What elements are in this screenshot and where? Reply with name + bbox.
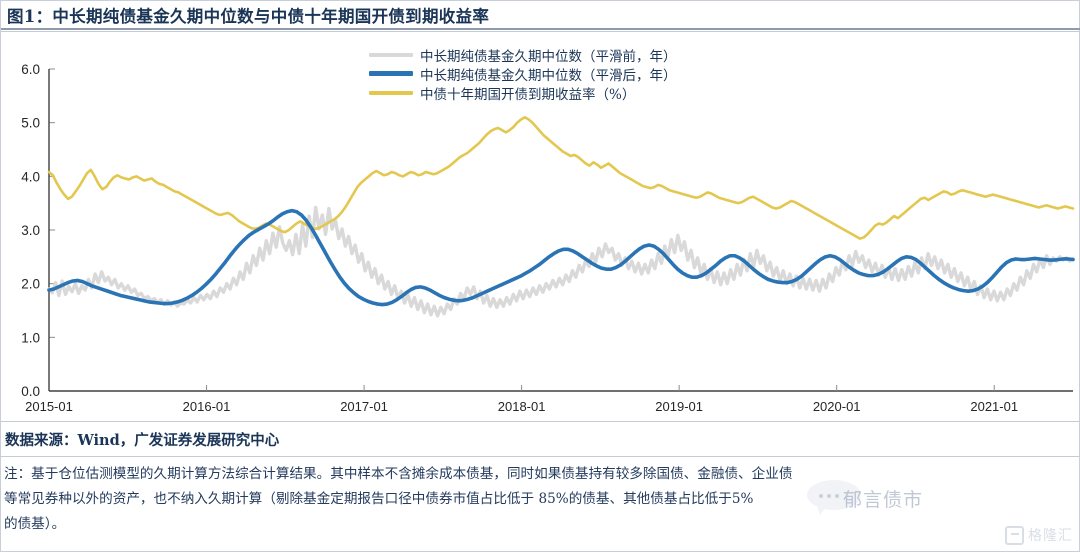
header-divider-secondary bbox=[1, 31, 1080, 32]
note-line-1: 注：基于仓位估测模型的久期计算方法综合计算结果。其中样本不含摊余成本债基，同时如… bbox=[4, 462, 1078, 487]
svg-text:3.0: 3.0 bbox=[21, 223, 40, 238]
svg-text:0.0: 0.0 bbox=[21, 384, 40, 399]
svg-text:6.0: 6.0 bbox=[21, 62, 40, 77]
legend-swatch-raw bbox=[369, 53, 413, 57]
legend-swatch-smooth bbox=[369, 71, 413, 76]
svg-text:2020-01: 2020-01 bbox=[813, 399, 861, 414]
source-divider bbox=[1, 421, 1080, 422]
figure-container: 图1：中长期纯债基金久期中位数与中债十年期国开债到期收益率 0.01.02.03… bbox=[0, 0, 1080, 552]
svg-text:2019-01: 2019-01 bbox=[655, 399, 703, 414]
chart-legend: 中长期纯债基金久期中位数（平滑前，年） 中长期纯债基金久期中位数（平滑后，年） … bbox=[369, 45, 677, 102]
svg-text:2016-01: 2016-01 bbox=[183, 399, 231, 414]
legend-item-raw: 中长期纯债基金久期中位数（平滑前，年） bbox=[369, 45, 677, 64]
svg-text:1.0: 1.0 bbox=[21, 330, 40, 345]
svg-text:2.0: 2.0 bbox=[21, 277, 40, 292]
svg-text:2015-01: 2015-01 bbox=[25, 399, 73, 414]
header-divider bbox=[1, 28, 1080, 30]
legend-item-smooth: 中长期纯债基金久期中位数（平滑后，年） bbox=[369, 64, 677, 83]
note-line-2: 等常见券种以外的资产，也不纳入久期计算（剔除基金定期报告口径中债券市值占比低于 … bbox=[4, 487, 1078, 512]
svg-text:5.0: 5.0 bbox=[21, 116, 40, 131]
legend-swatch-yield bbox=[369, 91, 413, 95]
legend-label-raw: 中长期纯债基金久期中位数（平滑前，年） bbox=[420, 45, 677, 65]
note-divider bbox=[1, 456, 1080, 457]
legend-label-yield: 中债十年期国开债到期收益率（%） bbox=[420, 83, 635, 103]
page-title: 图1：中长期纯债基金久期中位数与中债十年期国开债到期收益率 bbox=[7, 3, 489, 27]
svg-text:2021-01: 2021-01 bbox=[970, 399, 1018, 414]
svg-text:2017-01: 2017-01 bbox=[340, 399, 388, 414]
legend-item-yield: 中债十年期国开债到期收益率（%） bbox=[369, 83, 677, 102]
svg-text:4.0: 4.0 bbox=[21, 169, 40, 184]
chart-area: 0.01.02.03.04.05.06.02015-012016-012017-… bbox=[1, 33, 1080, 418]
figure-header: 图1：中长期纯债基金久期中位数与中债十年期国开债到期收益率 bbox=[1, 1, 1080, 29]
figure-note: 注：基于仓位估测模型的久期计算方法综合计算结果。其中样本不含摊余成本债基，同时如… bbox=[4, 462, 1078, 537]
legend-label-smooth: 中长期纯债基金久期中位数（平滑后，年） bbox=[420, 64, 677, 84]
note-line-3: 的债基）。 bbox=[4, 512, 1078, 537]
svg-text:2018-01: 2018-01 bbox=[498, 399, 546, 414]
data-source: 数据来源：Wind，广发证券发展研究中心 bbox=[5, 429, 279, 450]
